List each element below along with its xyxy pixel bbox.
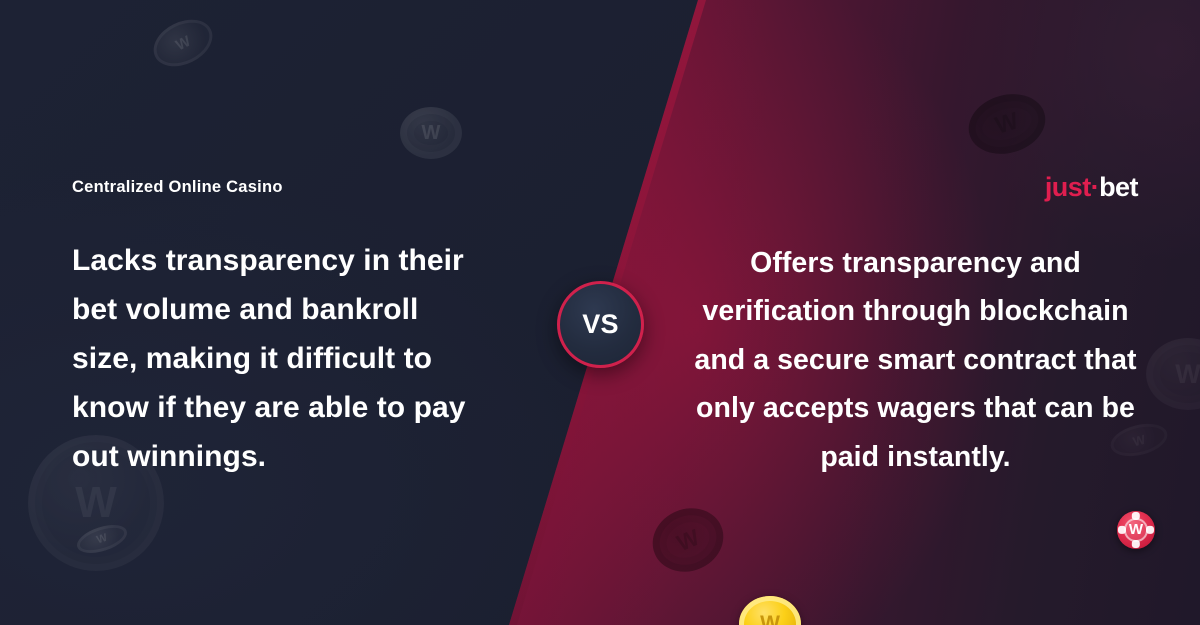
gold-coin-mark: W bbox=[760, 612, 780, 625]
vs-badge-label: VS bbox=[582, 309, 619, 340]
left-heading: Centralized Online Casino bbox=[72, 178, 472, 197]
logo-dot-separator: · bbox=[1091, 172, 1099, 202]
logo-word-just: just bbox=[1045, 172, 1091, 202]
left-content-column: Centralized Online Casino Lacks transpar… bbox=[72, 178, 472, 481]
logo-word-bet: bet bbox=[1099, 172, 1138, 202]
red-chip-mark: W bbox=[1124, 518, 1148, 542]
right-content-column: just·bet Offers transparency and verific… bbox=[693, 172, 1138, 481]
comparison-graphic: W W W W W W W W W W Centralized Online C… bbox=[0, 0, 1200, 625]
red-poker-chip-icon: W bbox=[1117, 511, 1155, 549]
justbet-logo[interactable]: just·bet bbox=[693, 172, 1138, 203]
left-body-text: Lacks transparency in their bet volume a… bbox=[72, 237, 472, 481]
vs-badge: VS bbox=[557, 281, 644, 368]
right-body-text: Offers transparency and verification thr… bbox=[693, 239, 1138, 481]
